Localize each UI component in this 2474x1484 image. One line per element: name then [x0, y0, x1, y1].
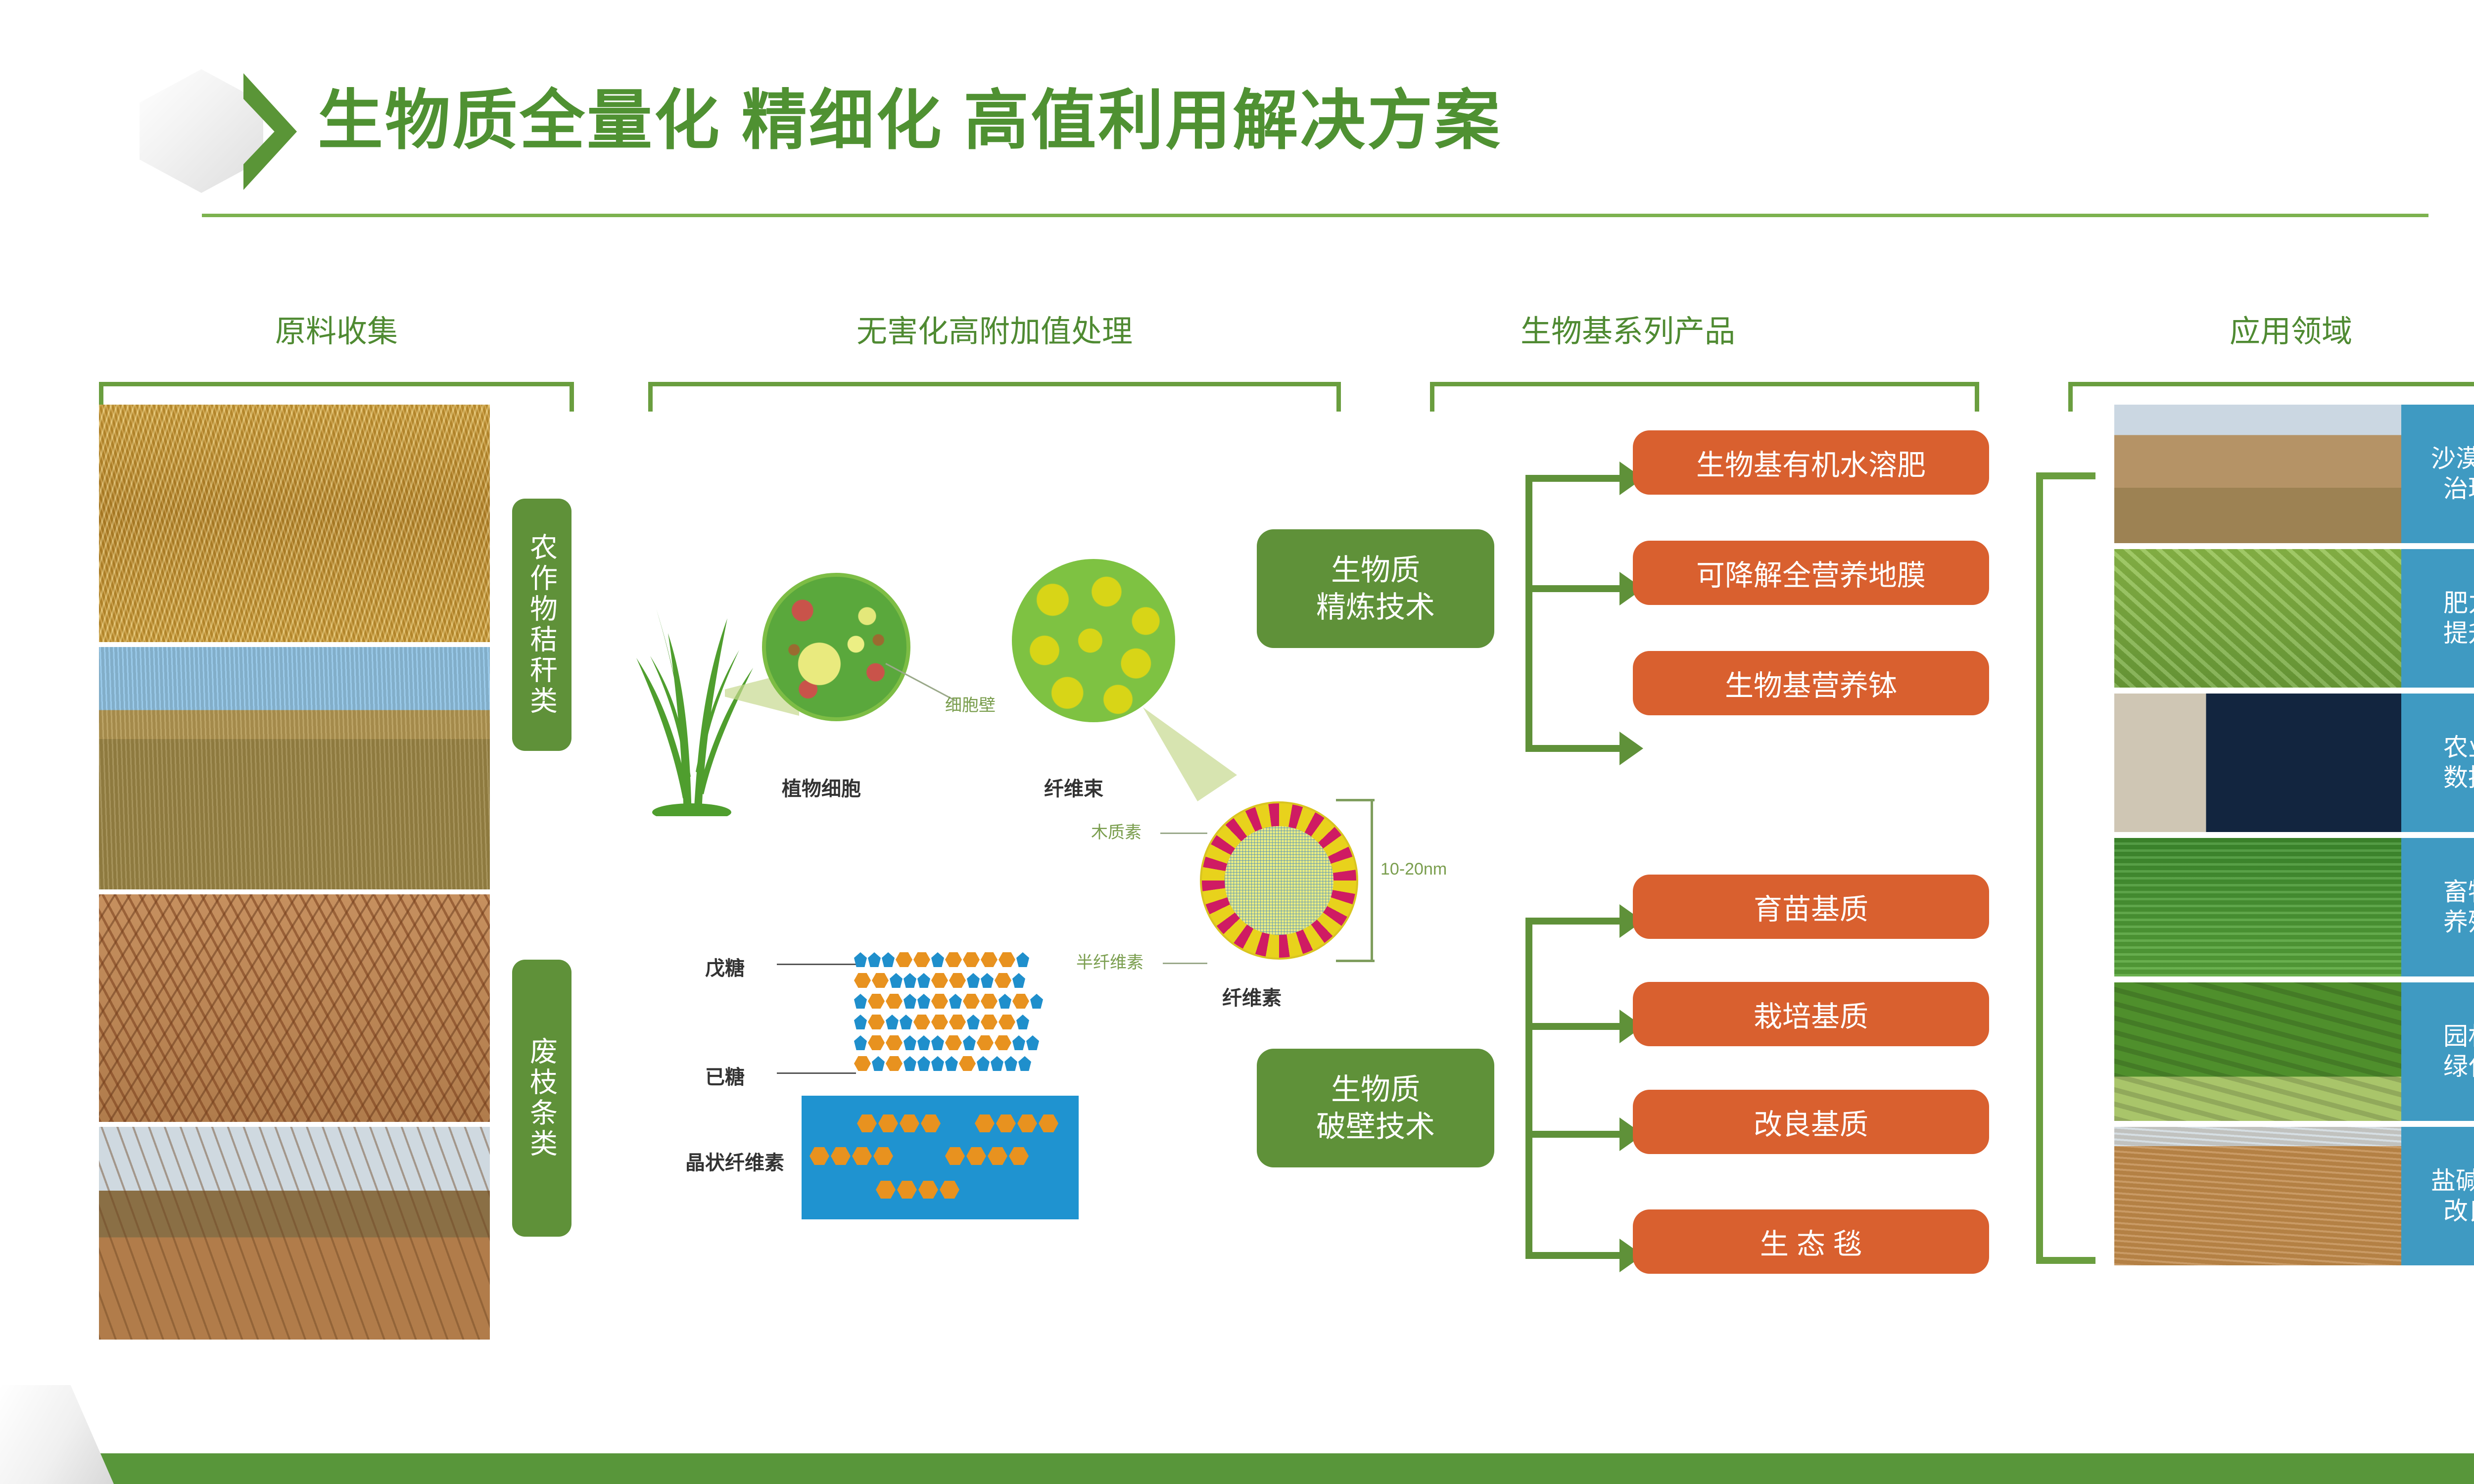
sugar-chain-diagram — [854, 952, 1087, 1086]
zoom-beam-fiber — [1143, 707, 1237, 801]
product-box-water-soluble-fertilizer[interactable]: 生物基有机水溶肥 — [1633, 430, 1989, 495]
application-label-desert-control: 沙漠化 治理 — [2401, 405, 2474, 543]
app-line2: 绿化 — [2443, 1052, 2474, 1082]
raw-photo-straw-bale-field — [99, 647, 490, 889]
bracket-harmless-processing — [648, 382, 1341, 412]
nano-scale-tick-bottom — [1336, 960, 1375, 962]
tech-box-breaking-line1: 生物质 — [1331, 1071, 1420, 1108]
lignin-label: 木质素 — [1091, 819, 1142, 843]
section-title-biobased-products: 生物基系列产品 — [1435, 317, 1821, 347]
application-label-landscaping: 园林 绿化 — [2401, 982, 2474, 1121]
connector-refining-branch-3 — [1525, 745, 1619, 752]
product-label: 生物基有机水溶肥 — [1696, 442, 1926, 483]
tech-box-refining-line2: 精炼技术 — [1316, 589, 1435, 626]
plant-cell-illustration — [762, 573, 910, 721]
application-row-agri-data[interactable]: 农业 数据 — [2114, 694, 2474, 832]
section-title-application-fields: 应用领域 — [2128, 317, 2454, 347]
connector-breaking-branch-3 — [1525, 1131, 1619, 1138]
product-label: 生 态 毯 — [1760, 1221, 1862, 1262]
pentose-leader-line — [777, 964, 856, 965]
raw-photo-orchard-pruning — [99, 1127, 490, 1340]
desert-control-photo — [2114, 405, 2401, 543]
footer-wedge-decoration — [0, 1385, 114, 1484]
product-box-cultivation-substrate[interactable]: 栽培基质 — [1633, 982, 1989, 1046]
application-label-saline-land: 盐碱地 改良 — [2401, 1127, 2474, 1265]
app-line2: 治理 — [2443, 474, 2474, 504]
raw-photo-corn-straw-field — [99, 405, 490, 642]
connector-breaking-branch-1 — [1525, 918, 1619, 925]
fiber-bundle-illustration — [1012, 559, 1175, 722]
application-row-saline-land[interactable]: 盐碱地 改良 — [2114, 1127, 2474, 1265]
raw-category-waste-branches-label: 废枝条类 — [522, 1037, 562, 1159]
product-box-nutrient-pot[interactable]: 生物基营养钵 — [1633, 651, 1989, 715]
lignin-leader-line — [1160, 833, 1207, 834]
tech-box-breaking-line2: 破壁技术 — [1316, 1108, 1435, 1145]
app-line1: 盐碱地 — [2431, 1166, 2474, 1196]
cellulose-label: 纤维素 — [1222, 982, 1282, 1011]
raw-category-crop-straw: 农作物秸秆类 — [512, 499, 571, 751]
product-label: 可降解全营养地膜 — [1696, 552, 1926, 594]
application-label-agri-data: 农业 数据 — [2401, 694, 2474, 832]
raw-category-crop-straw-label: 农作物秸秆类 — [522, 533, 562, 717]
bracket-biobased-products — [1430, 382, 1979, 412]
livestock-grazing-photo — [2114, 838, 2401, 976]
product-box-ecological-blanket[interactable]: 生 态 毯 — [1633, 1209, 1989, 1274]
plant-cell-label: 植物细胞 — [782, 773, 861, 801]
footer-bar — [99, 1453, 2474, 1484]
app-line1: 农业 — [2443, 733, 2474, 763]
section-title-harmless-processing: 无害化高附加值处理 — [722, 317, 1267, 347]
application-row-desert-control[interactable]: 沙漠化 治理 — [2114, 405, 2474, 543]
title-divider — [202, 214, 2428, 217]
app-line2: 数据 — [2443, 763, 2474, 793]
connector-refining-branch-2 — [1525, 585, 1619, 592]
landscape-greening-photo — [2114, 982, 2401, 1121]
app-line1: 沙漠化 — [2431, 444, 2474, 474]
app-line1: 园林 — [2443, 1021, 2474, 1052]
product-label: 生物基营养钵 — [1725, 662, 1897, 704]
raw-category-waste-branches: 废枝条类 — [512, 960, 571, 1237]
hemicellulose-leader-line — [1163, 963, 1207, 964]
app-line2: 提升 — [2443, 618, 2474, 649]
app-line2: 养殖 — [2443, 907, 2474, 937]
tech-box-refining-line1: 生物质 — [1331, 552, 1420, 589]
connector-breaking-branch-4 — [1525, 1252, 1619, 1259]
product-box-seedling-substrate[interactable]: 育苗基质 — [1633, 875, 1989, 939]
raw-photo-pruned-branches — [99, 894, 490, 1122]
saline-land-photo — [2114, 1127, 2401, 1265]
app-line1: 畜牧 — [2443, 877, 2474, 907]
bracket-applications-left — [2036, 472, 2095, 1264]
connector-refining-branch-1 — [1525, 475, 1619, 482]
fiber-bundle-label: 纤维束 — [1044, 773, 1103, 801]
hexose-label: 已糖 — [705, 1061, 745, 1090]
application-row-landscaping[interactable]: 园林 绿化 — [2114, 982, 2474, 1121]
connector-breaking-trunk — [1525, 918, 1532, 1259]
application-row-livestock[interactable]: 畜牧 养殖 — [2114, 838, 2474, 976]
tech-box-cell-wall-breaking[interactable]: 生物质 破壁技术 — [1257, 1049, 1494, 1167]
crystalline-cellulose-label: 晶状纤维素 — [685, 1147, 784, 1175]
product-box-biodegradable-mulch-film[interactable]: 可降解全营养地膜 — [1633, 541, 1989, 605]
product-label: 栽培基质 — [1754, 993, 1868, 1035]
connector-breaking-branch-2 — [1525, 1023, 1619, 1030]
nano-scale-tick-top — [1336, 799, 1375, 801]
nano-scale-label: 10-20nm — [1380, 860, 1447, 879]
app-line2: 改良 — [2443, 1196, 2474, 1226]
page-header: 生物质全量化 精细化 高值利用解决方案 — [0, 0, 2474, 232]
application-row-fertility[interactable]: 肥力 提升 — [2114, 549, 2474, 688]
app-line1: 肥力 — [2443, 588, 2474, 618]
product-box-improvement-substrate[interactable]: 改良基质 — [1633, 1090, 1989, 1154]
connector-refining-trunk — [1525, 475, 1532, 752]
cellulose-core — [1225, 826, 1333, 935]
crystalline-cellulose-diagram — [802, 1096, 1079, 1219]
section-title-raw-collection: 原料收集 — [198, 317, 475, 347]
cell-wall-label: 细胞壁 — [945, 692, 996, 716]
fertility-crops-photo — [2114, 549, 2401, 688]
product-label: 改良基质 — [1754, 1101, 1868, 1143]
grass-plant-icon — [628, 539, 757, 816]
nano-scale-bar — [1371, 799, 1373, 962]
product-label: 育苗基质 — [1754, 886, 1868, 927]
hexose-leader-line — [777, 1072, 856, 1074]
agri-data-center-photo — [2114, 694, 2401, 832]
pentose-label: 戊糖 — [705, 952, 745, 981]
application-label-livestock: 畜牧 养殖 — [2401, 838, 2474, 976]
application-label-fertility: 肥力 提升 — [2401, 549, 2474, 688]
arrow-refining-3 — [1619, 732, 1643, 765]
page-title: 生物质全量化 精细化 高值利用解决方案 — [318, 88, 1502, 153]
tech-box-refining[interactable]: 生物质 精炼技术 — [1257, 529, 1494, 648]
